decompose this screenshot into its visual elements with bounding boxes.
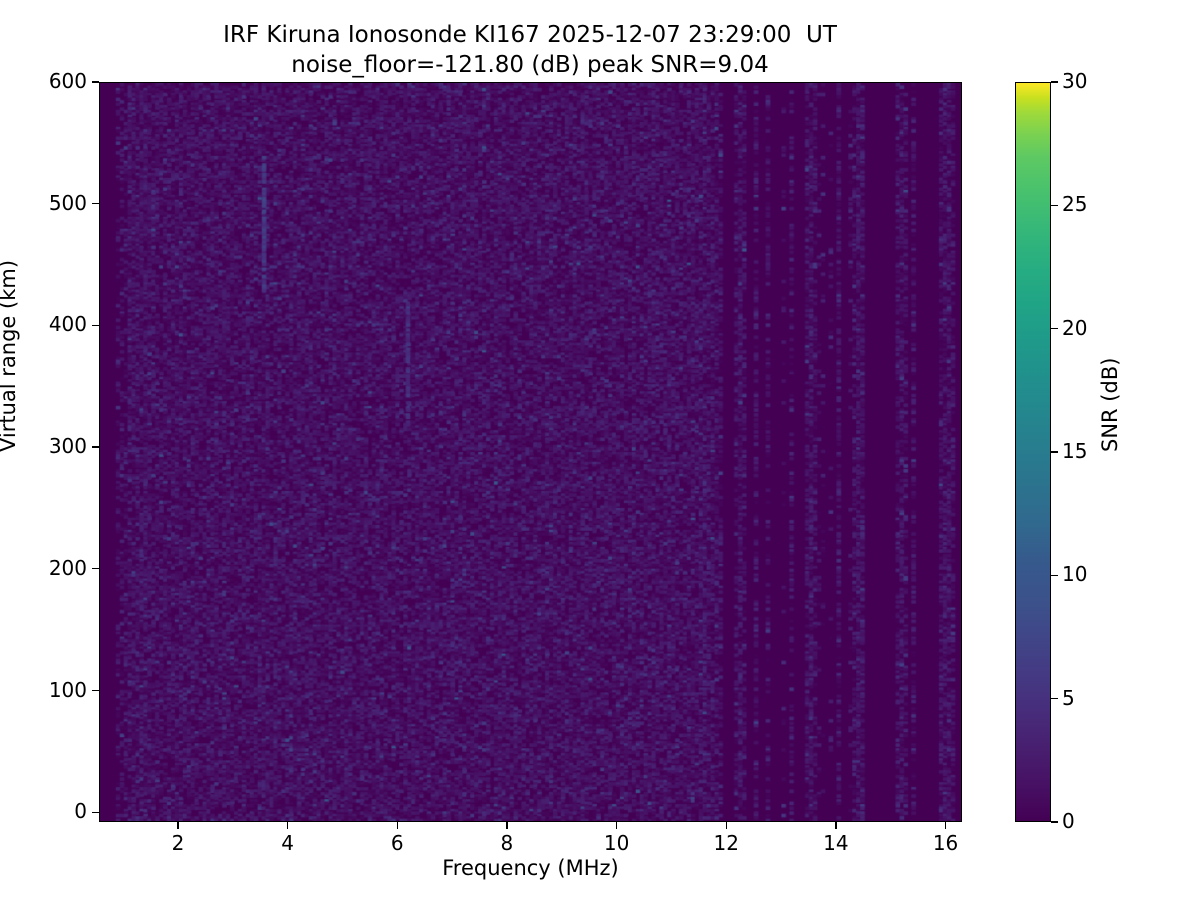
x-tick-label: 6	[391, 831, 404, 855]
colorbar-tick-mark	[1051, 451, 1058, 452]
colorbar-tick-label: 30	[1062, 69, 1087, 93]
y-tick-mark	[92, 325, 99, 326]
colorbar-tick-mark	[1051, 328, 1058, 329]
colorbar-tick-label: 25	[1062, 192, 1087, 216]
x-tick-mark	[397, 822, 398, 829]
y-tick-label: 600	[49, 69, 87, 93]
y-axis-label: Virtual range (km)	[0, 260, 20, 452]
x-tick-mark	[616, 822, 617, 829]
y-tick-mark	[92, 81, 99, 82]
x-tick-mark	[945, 822, 946, 829]
colorbar-tick-mark	[1051, 205, 1058, 206]
ionogram-heatmap	[100, 83, 961, 821]
colorbar-tick-label: 15	[1062, 439, 1087, 463]
y-tick-mark	[92, 568, 99, 569]
colorbar-label: SNR (dB)	[1098, 358, 1122, 452]
y-tick-label: 100	[49, 678, 87, 702]
x-axis-label: Frequency (MHz)	[99, 856, 962, 880]
colorbar-tick-label: 10	[1062, 562, 1087, 586]
x-tick-label: 2	[172, 831, 185, 855]
title-line-1: IRF Kiruna Ionosonde KI167 2025-12-07 23…	[0, 20, 1060, 50]
colorbar: 051015202530	[1015, 82, 1051, 822]
x-tick-label: 16	[933, 831, 958, 855]
y-tick-label: 200	[49, 556, 87, 580]
colorbar-tick-label: 5	[1062, 686, 1075, 710]
y-tick-label: 400	[49, 312, 87, 336]
x-tick-label: 12	[714, 831, 739, 855]
x-tick-label: 14	[823, 831, 848, 855]
ionogram-figure: IRF Kiruna Ionosonde KI167 2025-12-07 23…	[0, 0, 1200, 900]
colorbar-tick-mark	[1051, 821, 1058, 822]
colorbar-tick-mark	[1051, 81, 1058, 82]
x-tick-label: 10	[604, 831, 629, 855]
figure-title: IRF Kiruna Ionosonde KI167 2025-12-07 23…	[0, 20, 1060, 81]
x-tick-label: 8	[501, 831, 514, 855]
x-tick-mark	[177, 822, 178, 829]
plot-area	[99, 82, 962, 822]
y-tick-label: 300	[49, 434, 87, 458]
colorbar-tick-label: 20	[1062, 316, 1087, 340]
y-tick-mark	[92, 812, 99, 813]
x-tick-label: 4	[281, 831, 294, 855]
y-tick-mark	[92, 203, 99, 204]
y-tick-mark	[92, 446, 99, 447]
x-tick-mark	[287, 822, 288, 829]
y-tick-label: 0	[74, 799, 87, 823]
colorbar-tick-mark	[1051, 575, 1058, 576]
title-line-2: noise_floor=-121.80 (dB) peak SNR=9.04	[0, 50, 1060, 80]
x-tick-mark	[726, 822, 727, 829]
x-tick-mark	[835, 822, 836, 829]
y-tick-label: 500	[49, 191, 87, 215]
x-tick-mark	[506, 822, 507, 829]
y-tick-mark	[92, 690, 99, 691]
colorbar-tick-label: 0	[1062, 809, 1075, 833]
colorbar-tick-mark	[1051, 698, 1058, 699]
colorbar-gradient	[1015, 82, 1051, 822]
